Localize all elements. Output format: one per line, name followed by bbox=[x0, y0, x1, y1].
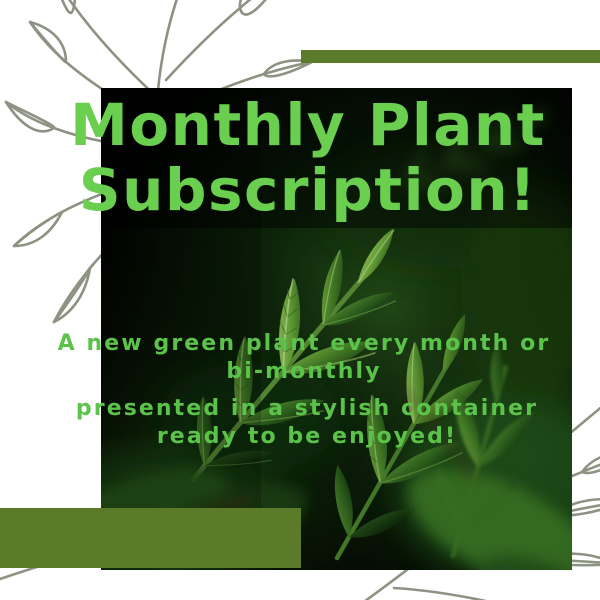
body-line-4: ready to be enjoyed! bbox=[0, 423, 600, 451]
headline-line-2: Subscription! bbox=[0, 163, 600, 218]
headline-group: Monthly Plant Subscription! bbox=[0, 98, 600, 218]
bottom-accent-block bbox=[0, 508, 301, 568]
body-line-3: presented in a stylish container bbox=[0, 395, 600, 423]
headline-line-1: Monthly Plant bbox=[0, 98, 600, 153]
top-accent-bar bbox=[301, 50, 600, 63]
body-copy-group: A new green plant every month or bi-mont… bbox=[0, 330, 600, 452]
poster-canvas: Monthly Plant Subscription! A new green … bbox=[0, 0, 600, 600]
body-line-2: bi-monthly bbox=[0, 358, 600, 386]
body-line-1: A new green plant every month or bbox=[0, 330, 600, 358]
